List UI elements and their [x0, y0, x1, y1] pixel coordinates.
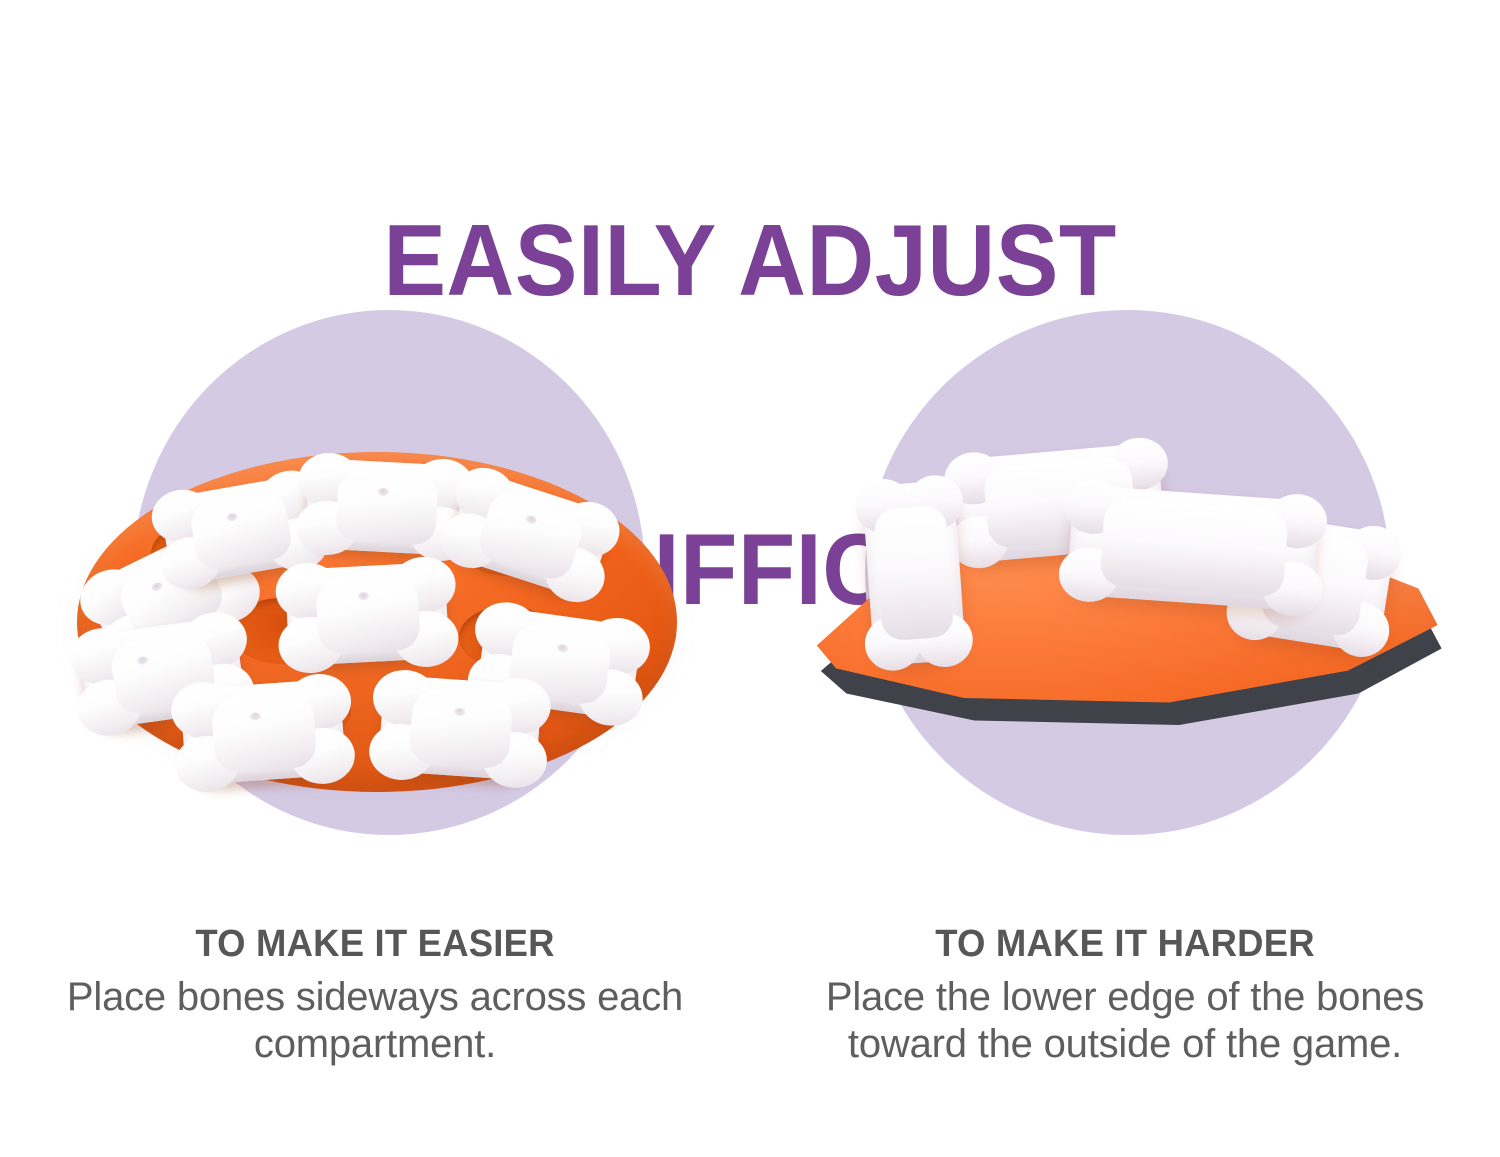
- caption-body-harder: Place the lower edge of the bones toward…: [760, 974, 1490, 1068]
- bone-piece-upright: [1066, 485, 1319, 612]
- panel-harder: [750, 300, 1500, 860]
- caption-body-easier: Place bones sideways across each compart…: [10, 974, 740, 1068]
- caption-harder: TO MAKE IT HARDER Place the lower edge o…: [760, 922, 1490, 1068]
- panel-easier: [0, 300, 750, 860]
- caption-title-easier: TO MAKE IT EASIER: [25, 922, 726, 966]
- bone-piece-upright: [862, 480, 966, 666]
- product-image-harder: [770, 395, 1480, 775]
- product-panels: [0, 300, 1500, 860]
- product-image-easier: [55, 430, 695, 830]
- bone-piece: [180, 679, 346, 786]
- caption-easier: TO MAKE IT EASIER Place bones sideways a…: [10, 922, 740, 1068]
- headline-line-1: EASILY ADJUST: [53, 210, 1448, 313]
- caption-title-harder: TO MAKE IT HARDER: [775, 922, 1476, 966]
- panel-captions: TO MAKE IT EASIER Place bones sideways a…: [0, 922, 1500, 1157]
- bone-piece: [285, 562, 450, 666]
- bone-piece: [378, 675, 542, 782]
